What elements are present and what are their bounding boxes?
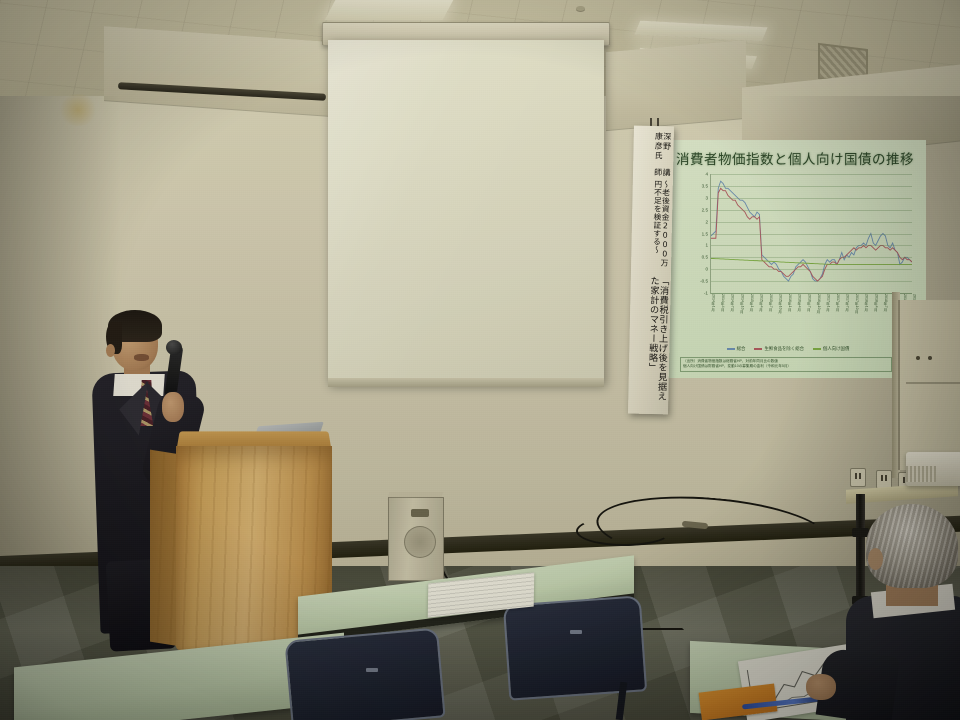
cabinet-dot-2 <box>928 356 932 360</box>
attendee-hair <box>866 504 958 588</box>
attendee-hand <box>806 674 836 700</box>
chart-y-tick-label: 1.5 <box>702 231 708 236</box>
banner-text: 「消費税引き上げ後を見据えた家計のマネー戦略」 〜老後資金2000万円不足を検証… <box>646 132 671 406</box>
banner-main-title: 「消費税引き上げ後を見据えた家計のマネー戦略」 <box>646 276 668 407</box>
pa-speaker-cone-icon <box>404 526 436 558</box>
pa-speaker-tweeter <box>411 509 429 517</box>
chart-x-tick-label: 2016年10月 <box>816 294 820 313</box>
presenter-ear <box>106 344 115 357</box>
cabinet-dot-1 <box>916 356 920 360</box>
chart-x-tick-label: 2017年7月 <box>845 294 849 311</box>
chart-x-tick-label: 2016年7月 <box>807 294 811 311</box>
chart-y-tick-label: -1 <box>704 291 708 296</box>
chart-x-tick-label: 2015年4月 <box>759 294 763 311</box>
legend-label: 総合 <box>737 346 746 352</box>
chair-left-tab <box>366 668 378 672</box>
chart-y-tick-label: 3 <box>705 195 708 200</box>
chart-x-tick-label: 2018年7月 <box>883 294 887 311</box>
legend-label: 生鮮食品を除く総合 <box>764 346 804 352</box>
seminar-banner: 「消費税引き上げ後を見据えた家計のマネー戦略」 〜老後資金2000万円不足を検証… <box>628 126 674 415</box>
chart-y-tick-label: 2 <box>705 219 708 224</box>
chart-x-tick-label: 2014年7月 <box>730 294 734 311</box>
chart-x-tick-label: 2014年10月 <box>740 294 744 313</box>
chart-legend-item: 総合 <box>727 346 746 352</box>
chart-x-tick-label: 2018年1月 <box>864 294 868 311</box>
chart-x-tick-label: 2017年4月 <box>835 294 839 311</box>
chart-x-tick-label: 2018年4月 <box>874 294 878 311</box>
screen-glare <box>328 40 604 384</box>
chart-legend: 総合生鮮食品を除く総合個人向け国債 <box>682 346 894 352</box>
chart-gridline <box>711 281 912 282</box>
chart-y-tick-label: 1 <box>705 243 708 248</box>
chart-area: 43.532.521.510.50-0.5-12014年1月2014年4月201… <box>678 170 916 338</box>
banner-speaker-name: 深野 康彦氏 <box>651 132 671 167</box>
chart-y-tick-label: 3.5 <box>702 183 708 188</box>
slide-title: 消費者物価指数と個人向け国債の推移 <box>676 148 920 168</box>
presenter-mouth <box>134 354 149 361</box>
chair-right-tab <box>570 630 582 634</box>
chart-legend-item: 生鮮食品を除く総合 <box>754 346 804 352</box>
source-note-line-2: 個人向け国債は財務省HP、変動10の募集期の金利（令和元年5月） <box>683 364 889 369</box>
chart-x-tick-label: 2015年7月 <box>768 294 772 311</box>
chart-series-line <box>711 181 912 281</box>
chart-y-tick-label: 4 <box>705 172 708 177</box>
chair-left[interactable] <box>284 627 445 720</box>
chart-x-tick-label: 2015年1月 <box>749 294 753 311</box>
wall-cabinet <box>898 300 960 470</box>
wall-soffit-left <box>104 26 330 117</box>
ceiling-light-fixture-1 <box>325 0 454 20</box>
chart-gridline <box>711 210 912 211</box>
chart-series-line <box>711 258 912 264</box>
legend-label: 個人向け国債 <box>823 346 849 352</box>
chart-plot-area: 43.532.521.510.50-0.5-12014年1月2014年4月201… <box>710 174 912 294</box>
chart-gridline <box>711 257 912 258</box>
photo-scene: 消費者物価指数と個人向け国債の推移 43.532.521.510.50-0.5-… <box>0 0 960 720</box>
chart-x-tick-label: 2014年1月 <box>711 294 715 311</box>
chart-y-tick-label: 0 <box>705 267 708 272</box>
wall-outlet-1[interactable] <box>850 468 866 487</box>
attendee-ear <box>868 548 883 570</box>
attendee-hair-texture <box>866 504 958 588</box>
wall-soffit-right <box>606 40 746 131</box>
presenter-hand <box>162 392 184 422</box>
chart-gridline <box>711 222 912 223</box>
legend-swatch-icon <box>727 348 735 350</box>
chart-y-tick-label: -0.5 <box>700 279 708 284</box>
projector-vent-icon <box>906 466 936 482</box>
chart-gridline <box>711 234 912 235</box>
chart-x-tick-label: 2014年4月 <box>721 294 725 311</box>
smoke-detector-icon <box>576 6 585 11</box>
chart-y-tick-label: 2.5 <box>702 207 708 212</box>
legend-swatch-icon <box>754 348 762 350</box>
projection-screen: 消費者物価指数と個人向け国債の推移 43.532.521.510.50-0.5-… <box>328 40 604 384</box>
chart-x-tick-label: 2017年1月 <box>826 294 830 311</box>
chart-gridline <box>711 245 912 246</box>
chart-x-tick-label: 2015年10月 <box>778 294 782 313</box>
projection-screen-weight-bar <box>328 378 604 387</box>
chart-gridline <box>711 269 912 270</box>
slide-source-note: （出所）消費者物価指数は総務省HP、対前年同月比の数値 個人向け国債は財務省HP… <box>680 357 892 372</box>
chart-y-tick-label: 0.5 <box>702 255 708 260</box>
chart-x-tick-label: 2017年10月 <box>855 294 859 313</box>
banner-subtitle: 〜老後資金2000万円不足を検証する〜 <box>649 180 670 275</box>
legend-swatch-icon <box>813 348 821 350</box>
chart-x-tick-label: 2016年4月 <box>797 294 801 311</box>
chart-x-tick-label: 2016年1月 <box>788 294 792 311</box>
banner-speaker-label: 講師 <box>651 168 670 180</box>
chart-gridline <box>711 198 912 199</box>
presentation-slide: 消費者物価指数と個人向け国債の推移 43.532.521.510.50-0.5-… <box>664 140 926 378</box>
chart-gridline <box>711 174 912 175</box>
chart-legend-item: 個人向け国債 <box>813 346 849 352</box>
chart-gridline <box>711 186 912 187</box>
cabinet-divider-line <box>906 382 960 384</box>
